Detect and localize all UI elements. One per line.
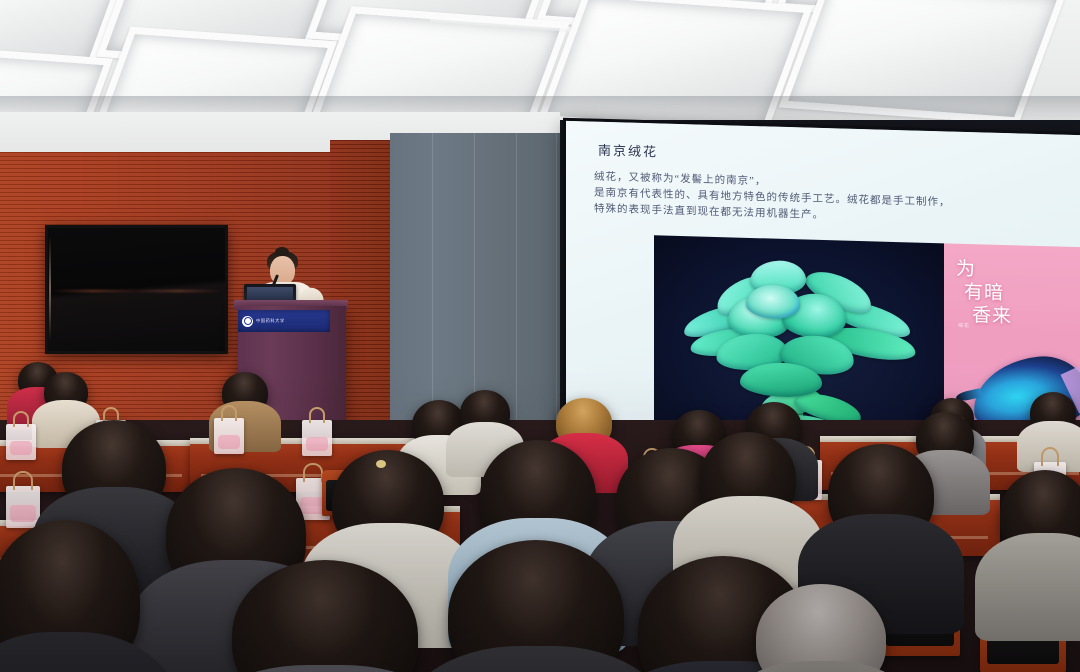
wall-mounted-tv bbox=[45, 225, 228, 354]
university-seal-icon bbox=[242, 316, 253, 327]
slide-body: 绒花，又被称为“发髻上的南京”， 是南京有代表性的、具有地方特色的传统手工艺。绒… bbox=[594, 170, 1074, 231]
podium-banner-text: 中国药科大学 bbox=[256, 318, 285, 324]
poster-title-char-2: 有暗 bbox=[964, 281, 1012, 305]
poster-title-char-3: 香来 bbox=[972, 304, 1012, 328]
audience-person-front-4 bbox=[480, 440, 596, 552]
presentation-slide: 南京绒花 绒花，又被称为“发髻上的南京”， 是南京有代表性的、具有地方特色的传统… bbox=[566, 121, 1080, 445]
audience-person-front-8 bbox=[1000, 470, 1080, 560]
audience-person-front-1 bbox=[62, 420, 166, 516]
poster-subtitle: 绒花 bbox=[958, 322, 970, 329]
poster-title: 为 有暗 香来 bbox=[956, 258, 1012, 329]
tv-reflection bbox=[50, 290, 222, 292]
gift-bag-4 bbox=[302, 420, 332, 456]
audience-person-front-7 bbox=[828, 444, 934, 544]
tv-edge-glare bbox=[49, 236, 51, 341]
gift-bag-3 bbox=[214, 418, 244, 454]
audience-person-front-3 bbox=[332, 450, 444, 554]
audience-person-front-9 bbox=[232, 560, 418, 672]
audience-person-front-12 bbox=[0, 520, 140, 672]
audience-person-front-13 bbox=[756, 584, 886, 672]
gift-bag-1 bbox=[6, 424, 36, 460]
audience-person-front-6 bbox=[700, 432, 796, 524]
slide-title: 南京绒花 bbox=[598, 140, 658, 161]
audience-person-mid-2 bbox=[460, 390, 510, 436]
poster-title-char-1: 为 bbox=[956, 258, 1012, 283]
podium-banner: 中国药科大学 bbox=[238, 310, 330, 332]
audience-person-back-5 bbox=[1030, 392, 1076, 434]
audience-person-front-10 bbox=[448, 540, 624, 672]
lecture-hall-photo: 南京绒花 绒花，又被称为“发髻上的南京”， 是南京有代表性的、具有地方特色的传统… bbox=[0, 0, 1080, 672]
audience-person-back-2 bbox=[44, 372, 88, 412]
projection-screen: 南京绒花 绒花，又被称为“发髻上的南京”， 是南京有代表性的、具有地方特色的传统… bbox=[566, 121, 1080, 445]
